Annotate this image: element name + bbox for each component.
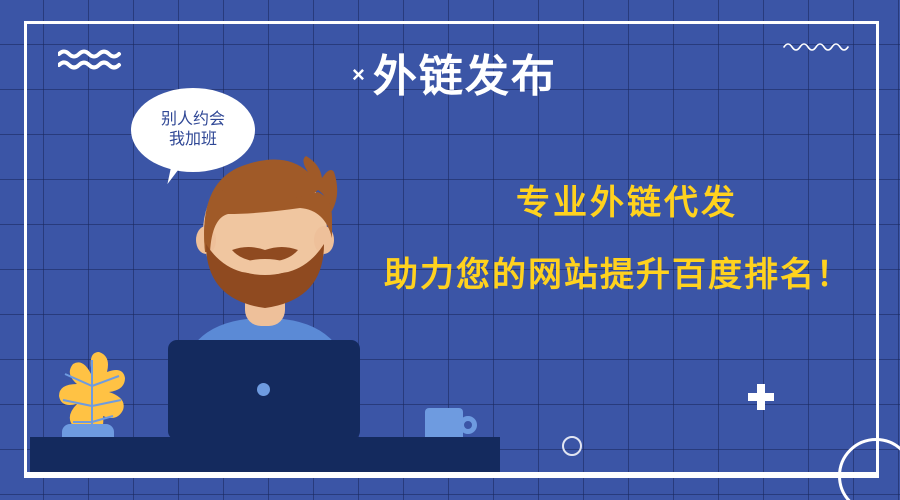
promo-banner: ×外链发布 专业外链代发 助力您的网站提升百度排名！ 别人约会 我加班 <box>0 0 900 500</box>
desk <box>30 437 500 473</box>
speech-bubble: 别人约会 我加班 <box>131 88 255 172</box>
laptop <box>168 340 360 440</box>
speech-bubble-line-2: 我加班 <box>169 130 217 150</box>
desk-edge-line <box>24 472 876 475</box>
speech-bubble-line-1: 别人约会 <box>161 110 225 130</box>
laptop-logo-icon <box>257 383 270 396</box>
mouth <box>239 259 291 275</box>
